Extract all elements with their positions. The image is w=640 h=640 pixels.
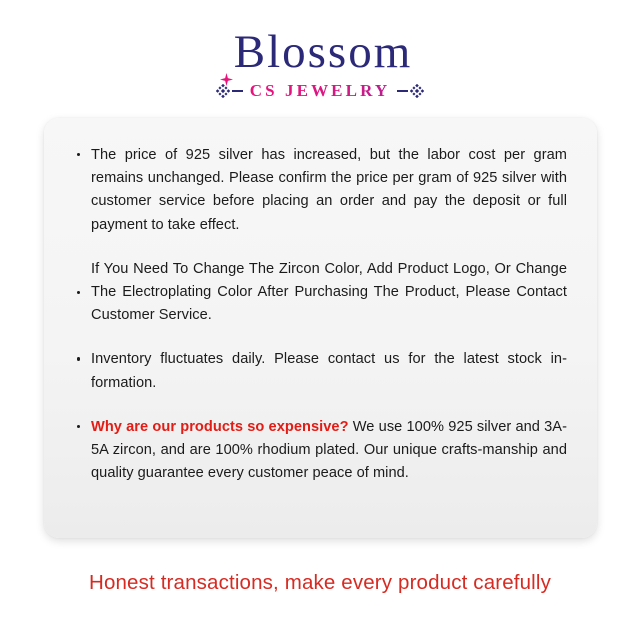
ornament-dash-left: [232, 90, 243, 92]
bullet-dot: [77, 425, 80, 428]
brand-header: Blossom CS JEWELRY: [0, 0, 640, 101]
notice-item-price: The price of 925 silver has increased, b…: [76, 144, 567, 237]
bullet-dot: [77, 357, 80, 360]
diamond-cluster-ornament-icon-left: [216, 84, 243, 98]
notice-text-customization: If You Need To Change The Zircon Color, …: [91, 258, 567, 328]
notice-item-customization: If You Need To Change The Zircon Color, …: [76, 258, 567, 328]
notice-text-price: The price of 925 silver has increased, b…: [91, 144, 567, 237]
notice-list: The price of 925 silver has increased, b…: [76, 144, 567, 485]
brand-tagline-text: CS JEWELRY: [250, 81, 390, 101]
notice-item-pricing-explainer: Why are our products so expensive? We us…: [76, 416, 567, 486]
bullet-dot: [77, 153, 80, 156]
ornament-dash-right: [397, 90, 408, 92]
footer-slogan: Honest transactions, make every product …: [0, 570, 640, 596]
brand-wordmark: Blossom: [228, 28, 413, 77]
notice-card: The price of 925 silver has increased, b…: [44, 118, 597, 538]
diamond-cluster-ornament-icon-right: [397, 84, 424, 98]
brand-tagline-row: CS JEWELRY: [0, 81, 640, 101]
bullet-dot: [77, 291, 80, 294]
notice-text-inventory: Inventory fluctuates daily. Please conta…: [91, 348, 567, 394]
four-point-star-icon: [220, 47, 233, 60]
notice-highlight-question: Why are our products so expensive?: [91, 419, 349, 435]
notice-text-pricing-explainer: Why are our products so expensive? We us…: [91, 416, 567, 486]
brand-name-text: Blossom: [234, 26, 413, 78]
notice-item-inventory: Inventory fluctuates daily. Please conta…: [76, 348, 567, 394]
